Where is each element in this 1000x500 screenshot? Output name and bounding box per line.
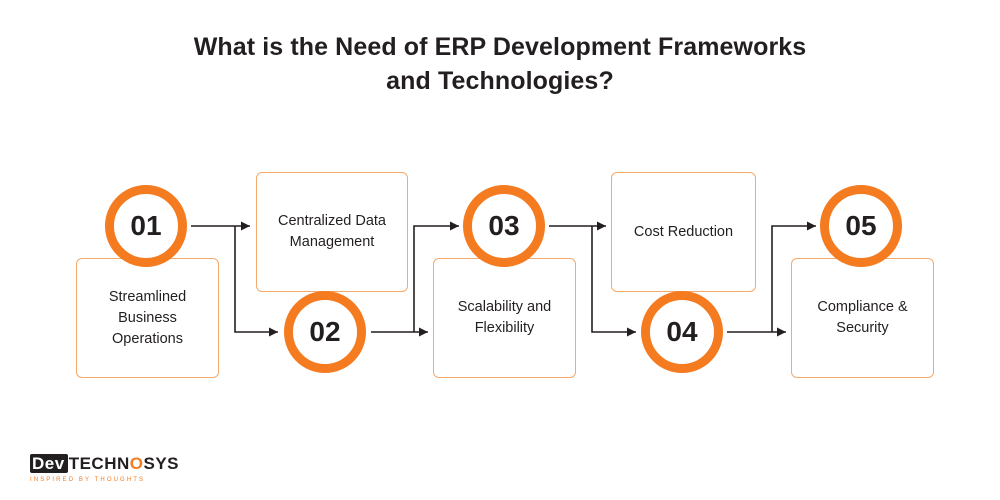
step-card-03[interactable]: Scalability and Flexibility — [433, 258, 576, 378]
company-logo-techn: TECHN — [69, 454, 130, 473]
step-card-02-label: Centralized Data Management — [267, 211, 397, 253]
step-badge-02[interactable]: 02 — [284, 291, 366, 373]
company-logo-tagline: INSPIRED BY THOUGHTS — [30, 475, 190, 485]
step-card-02[interactable]: Centralized Data Management — [256, 172, 408, 292]
company-logo[interactable]: DevTECHNOSYS INSPIRED BY THOUGHTS — [30, 455, 190, 487]
step-badge-03[interactable]: 03 — [463, 185, 545, 267]
step-card-01-label: Streamlined Business Operations — [87, 287, 208, 350]
step-card-03-label: Scalability and Flexibility — [444, 297, 565, 339]
step-badge-04[interactable]: 04 — [641, 291, 723, 373]
company-logo-dev: Dev — [30, 454, 68, 473]
step-badge-05-number: 05 — [845, 210, 876, 242]
step-badge-02-number: 02 — [309, 316, 340, 348]
step-badge-03-number: 03 — [488, 210, 519, 242]
company-logo-sys: SYS — [143, 454, 179, 473]
company-logo-wordmark: DevTECHNOSYS — [30, 455, 190, 473]
step-card-04[interactable]: Cost Reduction — [611, 172, 756, 292]
step-card-04-label: Cost Reduction — [634, 222, 733, 243]
step-badge-01-number: 01 — [130, 210, 161, 242]
step-badge-01[interactable]: 01 — [105, 185, 187, 267]
step-badge-05[interactable]: 05 — [820, 185, 902, 267]
step-card-05-label: Compliance & Security — [802, 297, 923, 339]
step-card-01[interactable]: Streamlined Business Operations — [76, 258, 219, 378]
step-card-05[interactable]: Compliance & Security — [791, 258, 934, 378]
company-logo-o: O — [130, 454, 144, 473]
step-badge-04-number: 04 — [666, 316, 697, 348]
